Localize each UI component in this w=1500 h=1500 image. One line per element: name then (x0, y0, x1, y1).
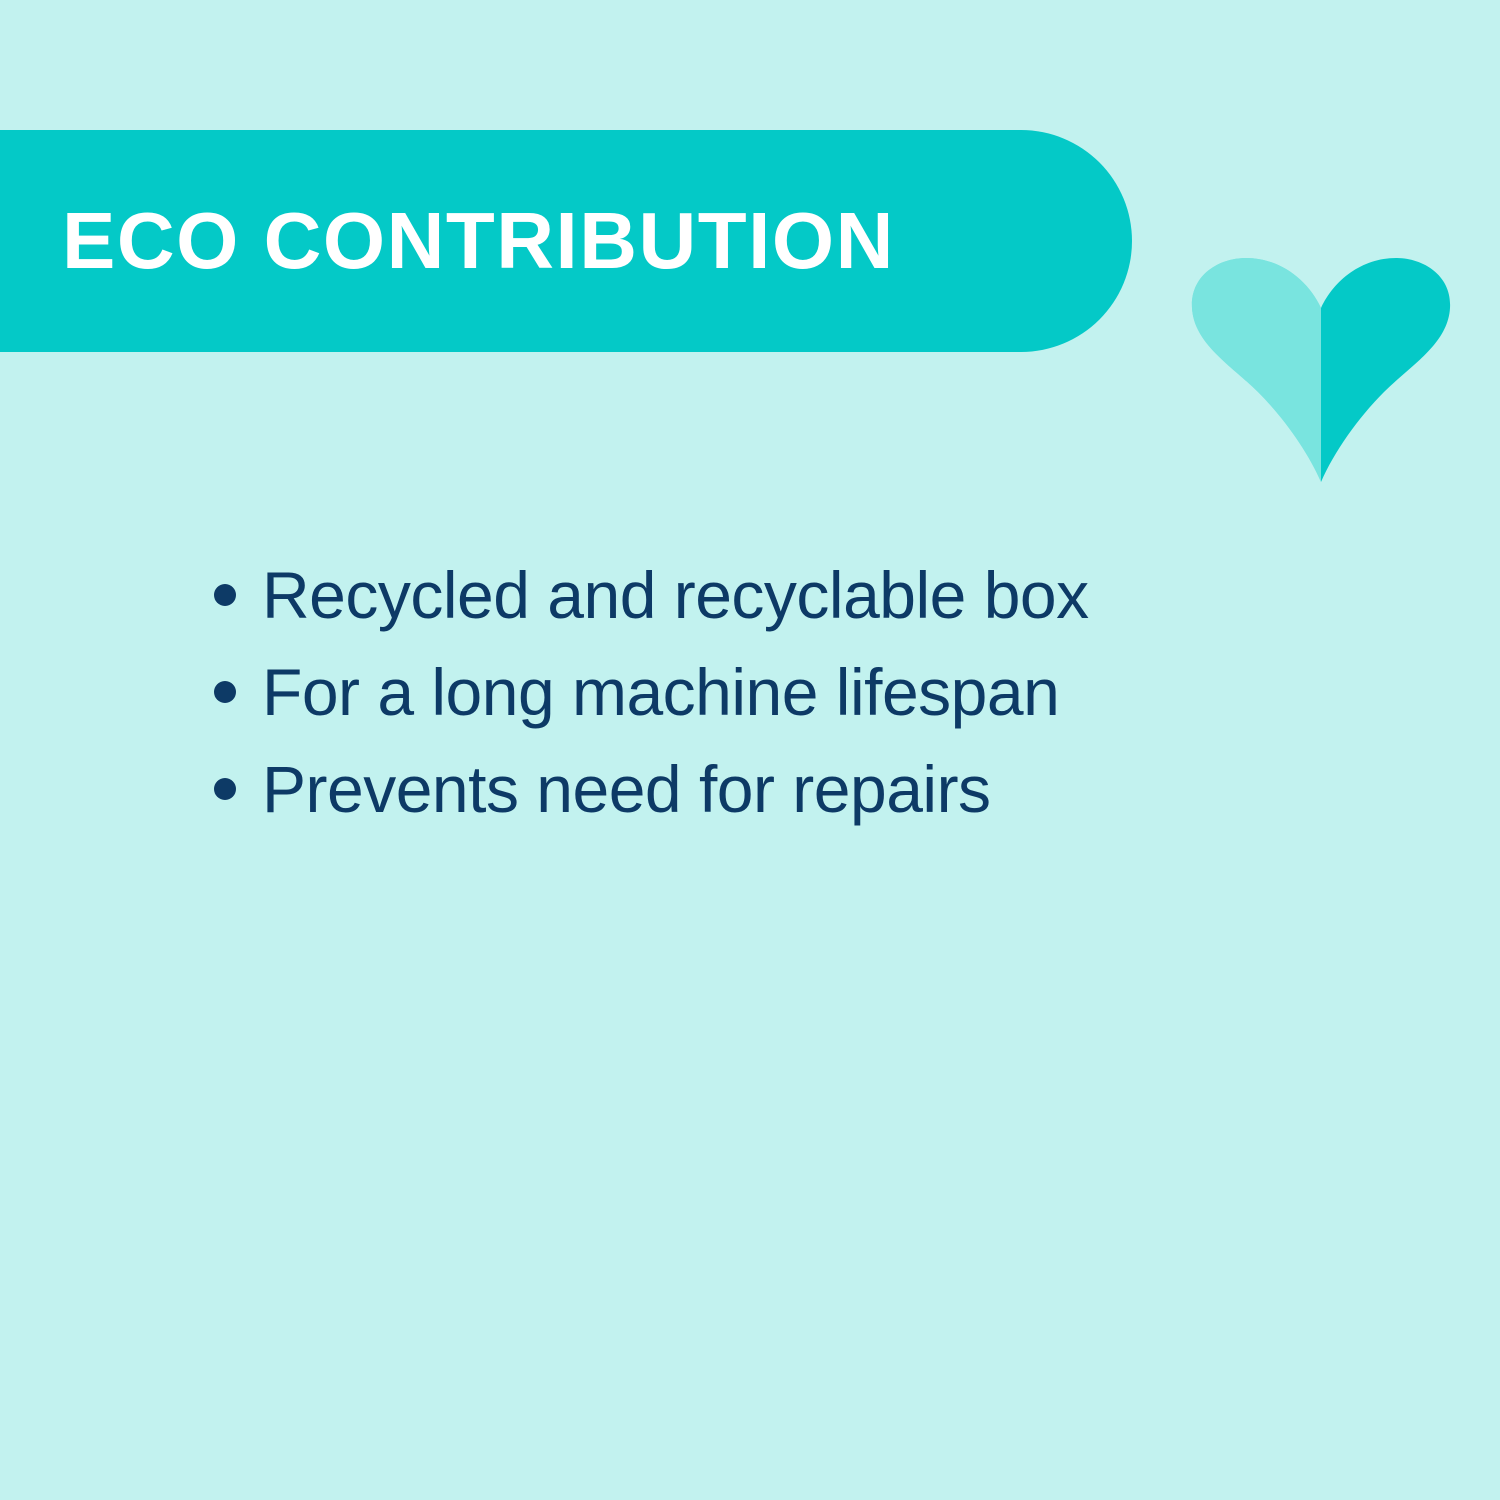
heart-icon (1188, 256, 1454, 488)
list-item: Prevents need for repairs (214, 740, 1394, 837)
eco-contribution-card: ECO CONTRIBUTION Recycled and recyclable… (0, 0, 1500, 1500)
list-item-label: Prevents need for repairs (262, 756, 991, 822)
bullet-dot-icon (214, 584, 236, 606)
list-item-label: Recycled and recyclable box (262, 562, 1089, 628)
bullet-dot-icon (214, 681, 236, 703)
title-banner: ECO CONTRIBUTION (0, 130, 1132, 352)
header-row: ECO CONTRIBUTION (0, 130, 1500, 352)
heart-right-lobe-shape (1321, 258, 1450, 482)
page-title: ECO CONTRIBUTION (62, 201, 895, 281)
benefits-list: Recycled and recyclable box For a long m… (214, 546, 1394, 837)
list-item: Recycled and recyclable box (214, 546, 1394, 643)
bullet-dot-icon (214, 778, 236, 800)
heart-left-lobe-overlay-shape (1192, 258, 1321, 482)
list-item-label: For a long machine lifespan (262, 659, 1059, 725)
list-item: For a long machine lifespan (214, 643, 1394, 740)
